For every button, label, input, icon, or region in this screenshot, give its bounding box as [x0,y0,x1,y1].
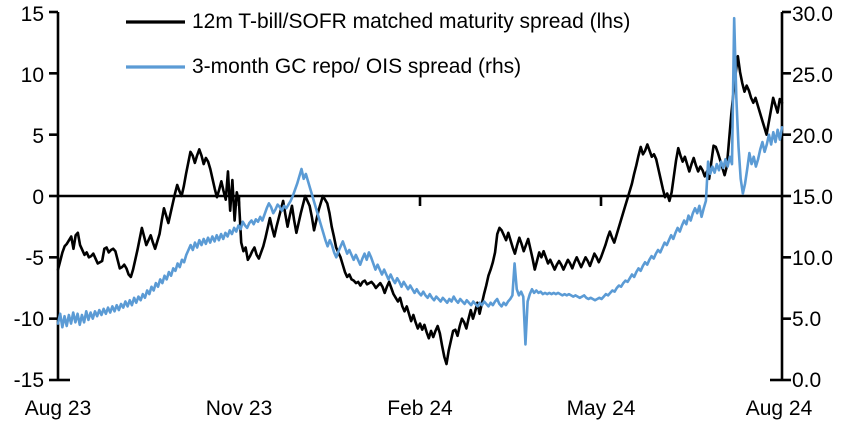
legend-swatches [126,22,185,67]
chart-container: 15 10 5 0 -5 -10 -15 30.0 25.0 20.0 15.0… [0,0,852,432]
series-group [58,18,782,364]
plot-area [0,0,852,432]
